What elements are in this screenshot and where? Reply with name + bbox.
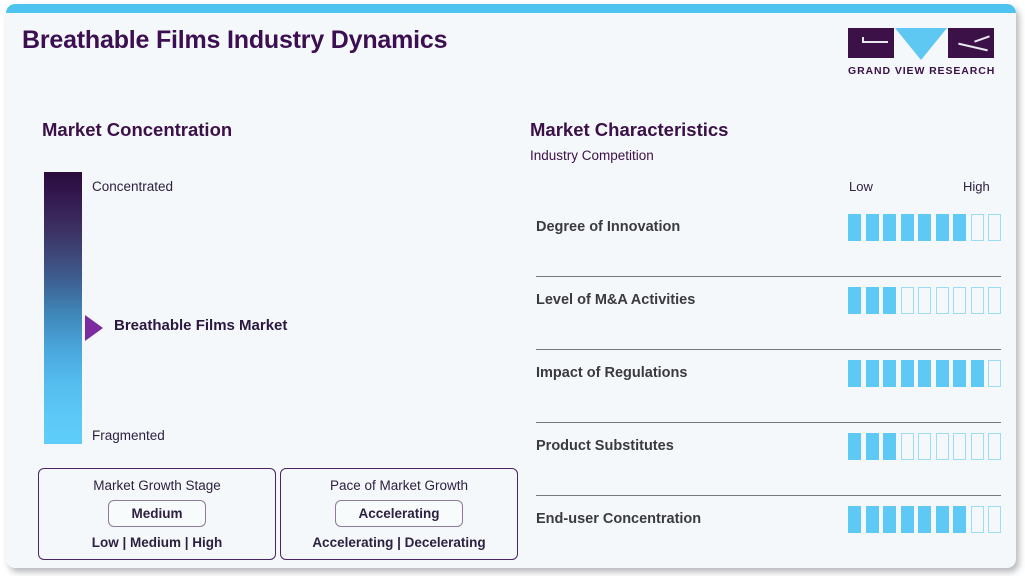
scale-axis-low-label: Low bbox=[849, 179, 873, 194]
market-concentration-title: Market Concentration bbox=[42, 119, 232, 141]
rating-ticks bbox=[848, 214, 1001, 241]
pace-of-market-growth-scale: Accelerating | Decelerating bbox=[281, 535, 517, 550]
market-characteristics-title: Market Characteristics bbox=[530, 119, 728, 141]
rating-ticks bbox=[848, 506, 1001, 533]
characteristic-label: Degree of Innovation bbox=[536, 219, 680, 235]
characteristic-row: Level of M&A Activities bbox=[536, 277, 1001, 350]
gvr-g-mark-icon bbox=[848, 28, 894, 58]
rating-tick-filled bbox=[901, 214, 914, 241]
rating-tick-filled bbox=[918, 214, 931, 241]
rating-tick-empty bbox=[988, 360, 1001, 387]
rating-tick-empty bbox=[901, 433, 914, 460]
rating-tick-filled bbox=[883, 433, 896, 460]
rating-tick-filled bbox=[953, 506, 966, 533]
rating-tick-filled bbox=[866, 287, 879, 314]
rating-tick-empty bbox=[971, 287, 984, 314]
rating-tick-filled bbox=[883, 214, 896, 241]
logo-wordmark: GRAND VIEW RESEARCH bbox=[848, 65, 994, 77]
pace-of-market-growth-box: Pace of Market Growth Accelerating Accel… bbox=[280, 468, 518, 560]
page-title: Breathable Films Industry Dynamics bbox=[22, 26, 447, 55]
gvr-r-mark-icon bbox=[948, 28, 994, 58]
rating-tick-empty bbox=[918, 433, 931, 460]
rating-tick-filled bbox=[918, 360, 931, 387]
characteristic-row: End-user Concentration bbox=[536, 496, 1001, 568]
rating-ticks bbox=[848, 433, 1001, 460]
rating-tick-filled bbox=[901, 360, 914, 387]
rating-tick-empty bbox=[936, 287, 949, 314]
rating-tick-filled bbox=[866, 506, 879, 533]
rating-tick-empty bbox=[901, 287, 914, 314]
rating-tick-empty bbox=[936, 433, 949, 460]
characteristic-label: End-user Concentration bbox=[536, 511, 701, 527]
rating-tick-empty bbox=[988, 287, 1001, 314]
rating-tick-filled bbox=[883, 360, 896, 387]
rating-tick-empty bbox=[988, 506, 1001, 533]
card-accent-bar bbox=[6, 4, 1016, 13]
rating-tick-filled bbox=[936, 506, 949, 533]
rating-tick-filled bbox=[936, 360, 949, 387]
rating-tick-empty bbox=[971, 433, 984, 460]
rating-tick-empty bbox=[971, 214, 984, 241]
market-growth-stage-box: Market Growth Stage Medium Low | Medium … bbox=[38, 468, 276, 560]
rating-tick-filled bbox=[866, 360, 879, 387]
rating-tick-filled bbox=[953, 360, 966, 387]
rating-tick-empty bbox=[918, 287, 931, 314]
rating-tick-filled bbox=[848, 287, 861, 314]
rating-tick-empty bbox=[988, 214, 1001, 241]
rating-tick-empty bbox=[953, 287, 966, 314]
rating-ticks bbox=[848, 360, 1001, 387]
rating-ticks bbox=[848, 287, 1001, 314]
report-card: Breathable Films Industry Dynamics GRAND… bbox=[6, 4, 1016, 568]
rating-tick-filled bbox=[848, 214, 861, 241]
gvr-v-triangle-icon bbox=[895, 28, 947, 60]
characteristics-rating-list: Degree of Innovation Level of M&A Activi… bbox=[536, 204, 1001, 568]
characteristic-label: Level of M&A Activities bbox=[536, 292, 695, 308]
market-position-label: Breathable Films Market bbox=[114, 317, 287, 334]
rating-tick-empty bbox=[971, 506, 984, 533]
rating-tick-filled bbox=[901, 506, 914, 533]
rating-tick-filled bbox=[866, 433, 879, 460]
scale-axis-high-label: High bbox=[963, 179, 990, 194]
rating-tick-filled bbox=[848, 360, 861, 387]
rating-tick-filled bbox=[971, 360, 984, 387]
rating-tick-empty bbox=[953, 433, 966, 460]
market-growth-stage-scale: Low | Medium | High bbox=[39, 535, 275, 550]
characteristic-label: Impact of Regulations bbox=[536, 365, 687, 381]
rating-tick-filled bbox=[883, 506, 896, 533]
characteristic-row: Degree of Innovation bbox=[536, 204, 1001, 277]
rating-tick-filled bbox=[936, 214, 949, 241]
market-growth-stage-value: Medium bbox=[108, 500, 205, 527]
rating-tick-filled bbox=[848, 433, 861, 460]
rating-tick-filled bbox=[883, 287, 896, 314]
characteristic-label: Product Substitutes bbox=[536, 438, 674, 454]
brand-logo: GRAND VIEW RESEARCH bbox=[848, 28, 994, 77]
market-growth-stage-title: Market Growth Stage bbox=[39, 478, 275, 493]
logo-marks bbox=[848, 28, 994, 60]
market-position-arrow-icon bbox=[85, 315, 103, 341]
concentration-gradient-bar bbox=[44, 172, 82, 444]
pace-of-market-growth-value: Accelerating bbox=[335, 500, 462, 527]
rating-tick-filled bbox=[866, 214, 879, 241]
rating-tick-filled bbox=[848, 506, 861, 533]
market-characteristics-subtitle: Industry Competition bbox=[530, 148, 654, 163]
characteristic-row: Impact of Regulations bbox=[536, 350, 1001, 423]
rating-tick-empty bbox=[988, 433, 1001, 460]
rating-tick-filled bbox=[918, 506, 931, 533]
characteristic-row: Product Substitutes bbox=[536, 423, 1001, 496]
concentration-bottom-label: Fragmented bbox=[92, 428, 165, 443]
rating-tick-filled bbox=[953, 214, 966, 241]
pace-of-market-growth-title: Pace of Market Growth bbox=[281, 478, 517, 493]
concentration-top-label: Concentrated bbox=[92, 179, 173, 194]
